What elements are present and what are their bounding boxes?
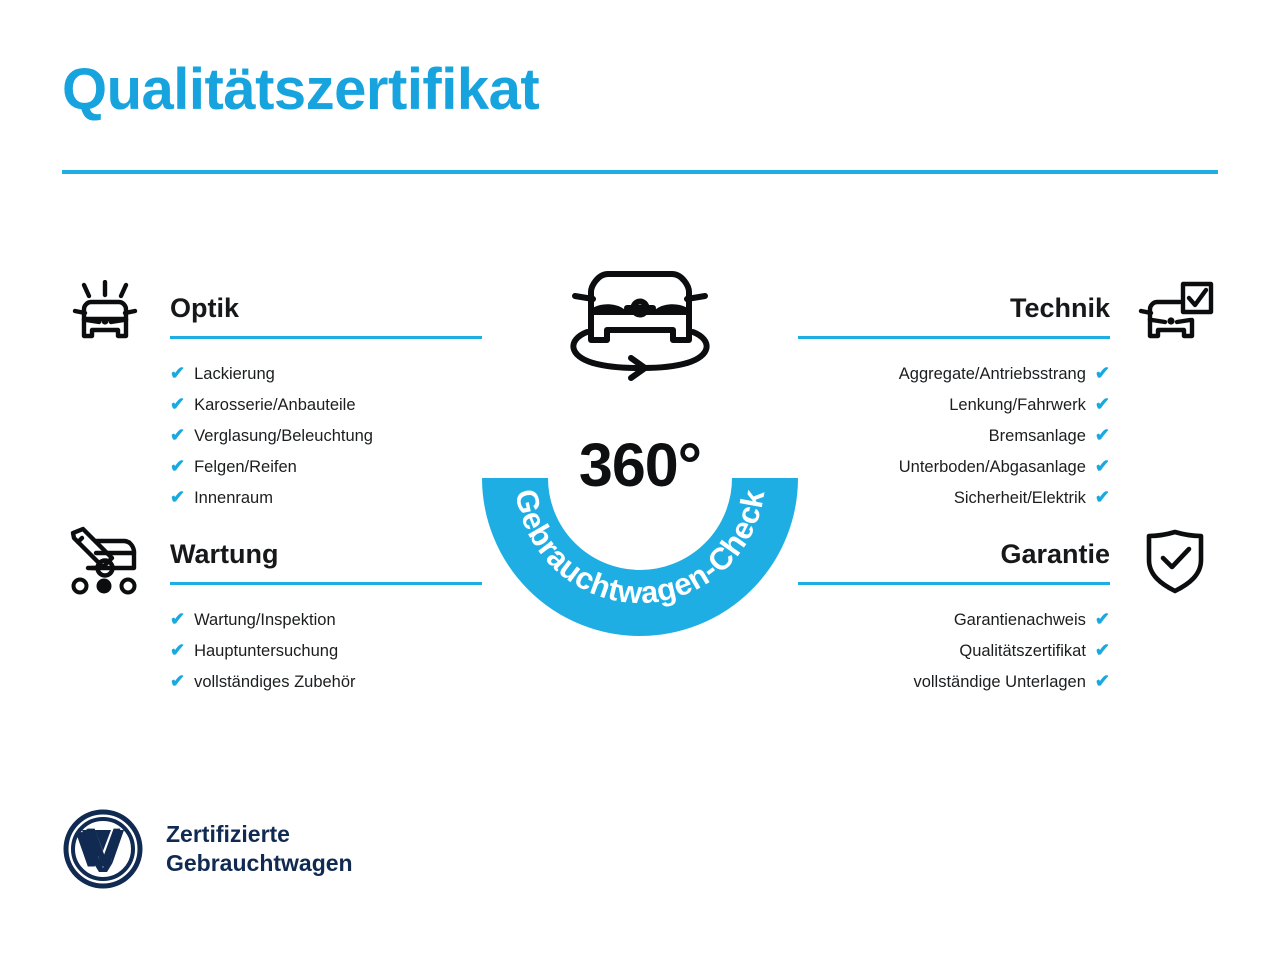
- checklist-wartung: ✔Wartung/Inspektion ✔Hauptuntersuchung ✔…: [62, 604, 482, 697]
- section-rule-wartung: [170, 582, 482, 585]
- list-item-label: Lenkung/Fahrwerk: [949, 390, 1086, 420]
- shield-check-icon: [1136, 526, 1214, 596]
- list-item: ✔Verglasung/Beleuchtung: [62, 420, 482, 451]
- check-icon: ✔: [1095, 635, 1110, 665]
- list-item-label: Hauptuntersuchung: [194, 636, 338, 666]
- vw-certified-logo: Zertifizierte Gebrauchtwagen: [62, 808, 353, 890]
- vw-logo: [62, 808, 144, 890]
- check-icon: ✔: [1095, 482, 1110, 512]
- check-icon: ✔: [1095, 389, 1110, 419]
- section-garantie: Garantie Garantienachweis✔ Qualitätszert…: [798, 534, 1218, 697]
- section-header-technik: Technik: [798, 288, 1218, 344]
- footer-line-2: Gebrauchtwagen: [166, 849, 353, 878]
- list-item-label: Qualitätszertifikat: [959, 636, 1086, 666]
- list-item-label: Aggregate/Antriebsstrang: [899, 359, 1086, 389]
- badge-degrees: 360°: [455, 430, 825, 500]
- list-item-label: Bremsanlage: [989, 421, 1086, 451]
- service-pen-car-icon: [66, 526, 144, 596]
- check-icon: ✔: [170, 358, 185, 388]
- check-icon: ✔: [170, 420, 185, 450]
- list-item-label: Lackierung: [194, 359, 275, 389]
- car-checkbox-icon: [1136, 280, 1214, 350]
- list-item: Qualitätszertifikat✔: [798, 635, 1218, 666]
- section-wartung: Wartung ✔Wartung/Inspektion ✔Hauptunters…: [62, 534, 482, 697]
- list-item: vollständige Unterlagen✔: [798, 666, 1218, 697]
- section-optik: Optik ✔Lackierung ✔Karosserie/Anbauteile…: [62, 288, 482, 513]
- check-icon: ✔: [170, 666, 185, 696]
- page-title: Qualitätszertifikat: [62, 60, 539, 121]
- check-icon: ✔: [1095, 666, 1110, 696]
- header-divider: [62, 170, 1218, 174]
- list-item: Bremsanlage✔: [798, 420, 1218, 451]
- list-item-label: Wartung/Inspektion: [194, 605, 336, 635]
- list-item-label: Verglasung/Beleuchtung: [194, 421, 373, 451]
- list-item: ✔Innenraum: [62, 482, 482, 513]
- list-item: Sicherheit/Elektrik✔: [798, 482, 1218, 513]
- section-header-optik: Optik: [62, 288, 482, 344]
- list-item: ✔Karosserie/Anbauteile: [62, 389, 482, 420]
- list-item-label: Garantienachweis: [954, 605, 1086, 635]
- list-item-label: Felgen/Reifen: [194, 452, 297, 482]
- certificate-page: Qualitätszertifikat: [0, 0, 1280, 960]
- list-item: Aggregate/Antriebsstrang✔: [798, 358, 1218, 389]
- checklist-technik: Aggregate/Antriebsstrang✔ Lenkung/Fahrwe…: [798, 358, 1218, 513]
- list-item: ✔Lackierung: [62, 358, 482, 389]
- check-icon: ✔: [1095, 358, 1110, 388]
- list-item-label: Sicherheit/Elektrik: [954, 483, 1086, 513]
- list-item: Garantienachweis✔: [798, 604, 1218, 635]
- list-item-label: vollständige Unterlagen: [913, 667, 1085, 697]
- section-rule-garantie: [798, 582, 1110, 585]
- list-item: Lenkung/Fahrwerk✔: [798, 389, 1218, 420]
- checklist-optik: ✔Lackierung ✔Karosserie/Anbauteile ✔Verg…: [62, 358, 482, 513]
- check-icon: ✔: [170, 451, 185, 481]
- car-rotate-icon: [573, 274, 706, 378]
- section-rule-optik: [170, 336, 482, 339]
- check-icon: ✔: [170, 635, 185, 665]
- list-item: ✔Hauptuntersuchung: [62, 635, 482, 666]
- list-item: ✔Felgen/Reifen: [62, 451, 482, 482]
- check-icon: ✔: [1095, 451, 1110, 481]
- list-item-label: Karosserie/Anbauteile: [194, 390, 355, 420]
- list-item: Unterboden/Abgasanlage✔: [798, 451, 1218, 482]
- list-item: ✔vollständiges Zubehör: [62, 666, 482, 697]
- car-shine-icon: [66, 280, 144, 350]
- check-icon: ✔: [1095, 420, 1110, 450]
- list-item: ✔Wartung/Inspektion: [62, 604, 482, 635]
- checklist-garantie: Garantienachweis✔ Qualitätszertifikat✔ v…: [798, 604, 1218, 697]
- footer-line-1: Zertifizierte: [166, 820, 353, 849]
- check-icon: ✔: [170, 389, 185, 419]
- section-rule-technik: [798, 336, 1110, 339]
- list-item-label: Unterboden/Abgasanlage: [899, 452, 1086, 482]
- footer-text: Zertifizierte Gebrauchtwagen: [166, 820, 353, 878]
- 360-check-badge: Gebrauchtwagen-Check: [455, 248, 825, 638]
- section-header-wartung: Wartung: [62, 534, 482, 590]
- list-item-label: Innenraum: [194, 483, 273, 513]
- check-icon: ✔: [1095, 604, 1110, 634]
- section-header-garantie: Garantie: [798, 534, 1218, 590]
- check-icon: ✔: [170, 482, 185, 512]
- section-technik: Technik Aggregate/Antriebsstrang✔ Lenkun…: [798, 288, 1218, 513]
- list-item-label: vollständiges Zubehör: [194, 667, 355, 697]
- check-icon: ✔: [170, 604, 185, 634]
